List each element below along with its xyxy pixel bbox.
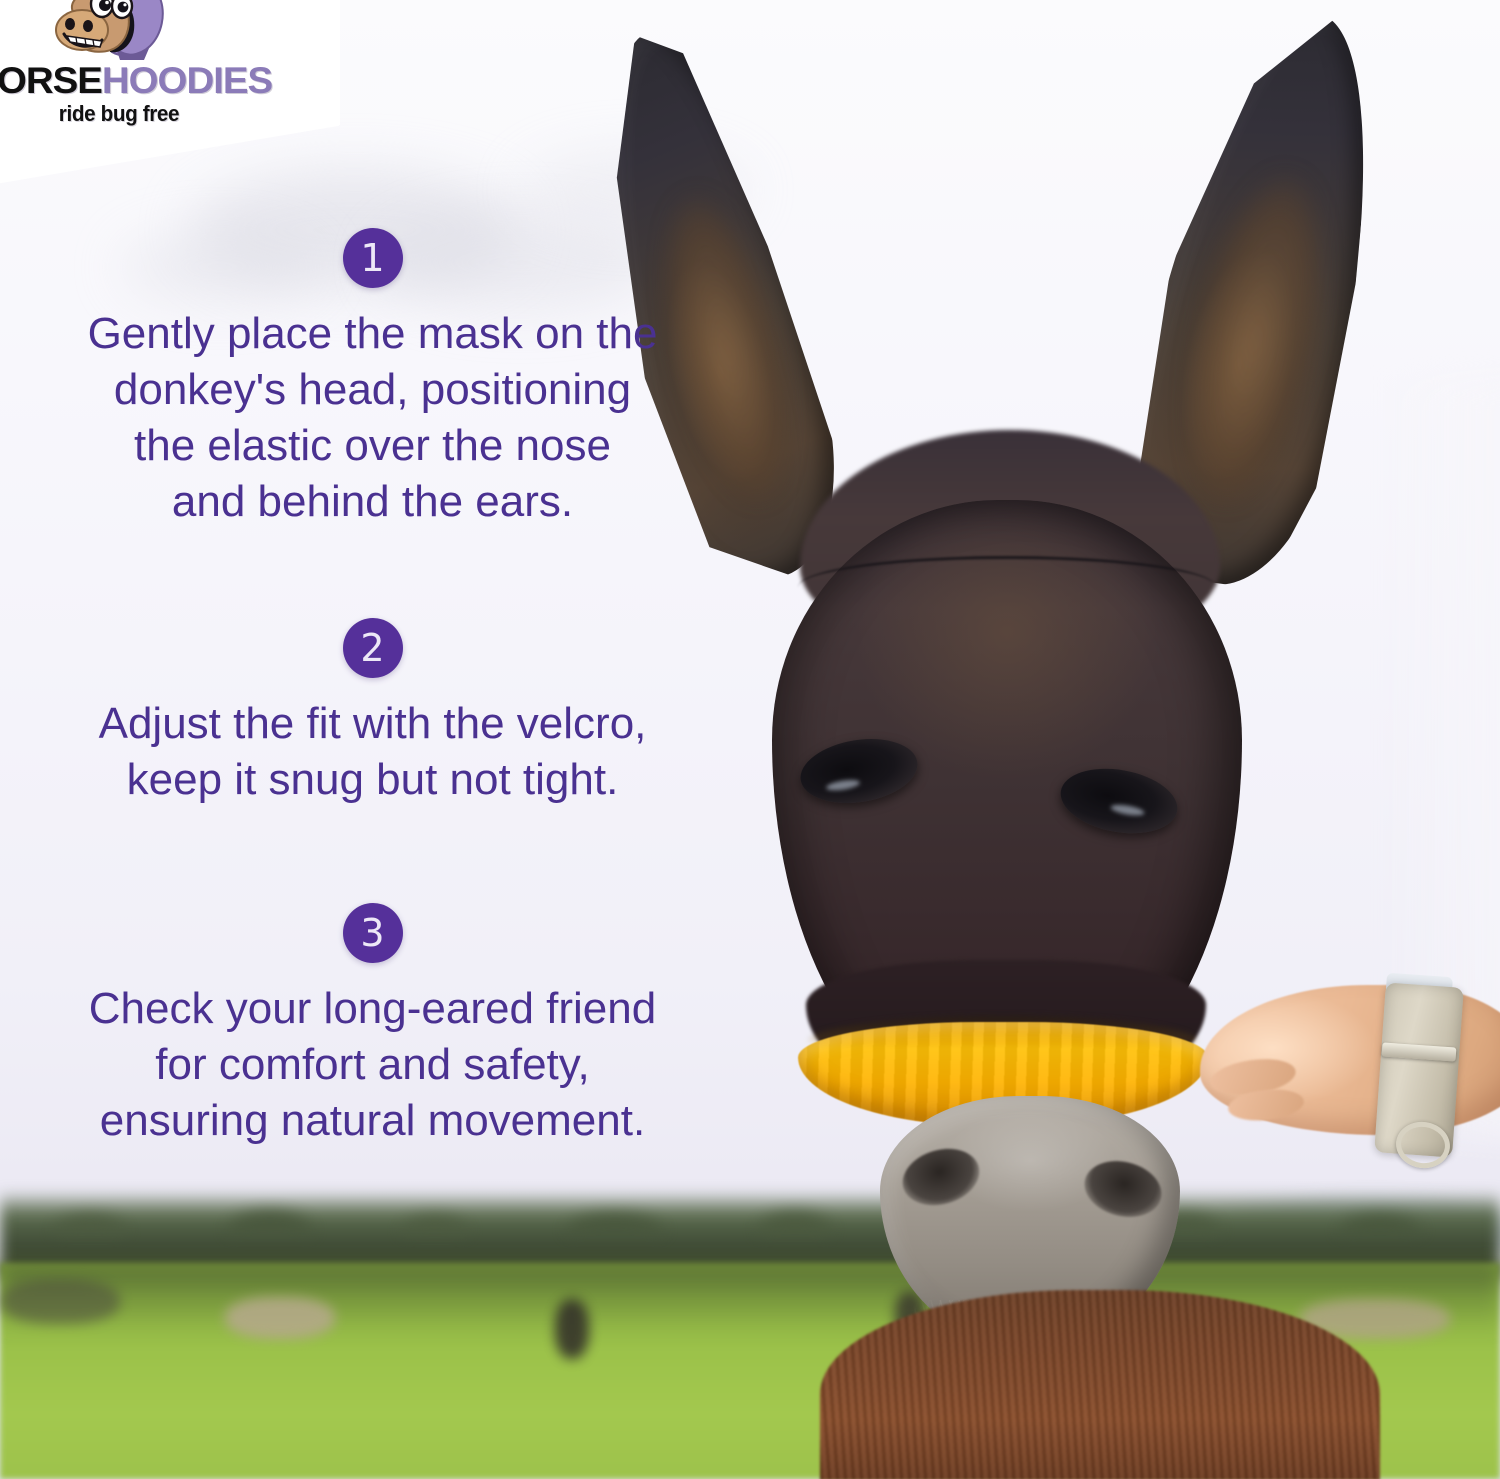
step-text-3: Check your long-eared friend for comfort… [0,981,745,1149]
step-number-badge-3: 3 [343,903,403,963]
donkey-photo [680,0,1500,1479]
logo-word-horse: HORSE [0,60,102,101]
logo-tagline: ride bug free [0,103,253,125]
logo-wordmark: HORSEHOODIES ride bug free [0,62,262,125]
distant-animal [555,1299,589,1359]
infographic-canvas: HORSEHOODIES ride bug free 1 Gently plac… [0,0,1500,1479]
step-item-2: 2 Adjust the fit with the velcro, keep i… [0,618,745,808]
step-text-1: Gently place the mask on the donkey's he… [0,306,745,530]
step-number-badge-2: 2 [343,618,403,678]
step-number-badge-1: 1 [343,228,403,288]
logo-word-hoodies: HOODIES [102,60,272,101]
step-item-1: 1 Gently place the mask on the donkey's … [0,228,745,530]
cartoon-horse-in-purple-hoodie-icon [44,0,174,68]
field-shadow [0,1279,120,1324]
step-text-2: Adjust the fit with the velcro, keep it … [0,696,745,808]
donkey-chest-fur [820,1290,1380,1479]
brand-logo[interactable]: HORSEHOODIES ride bug free [0,0,266,136]
field-object [225,1297,335,1339]
step-item-3: 3 Check your long-eared friend for comfo… [0,903,745,1149]
